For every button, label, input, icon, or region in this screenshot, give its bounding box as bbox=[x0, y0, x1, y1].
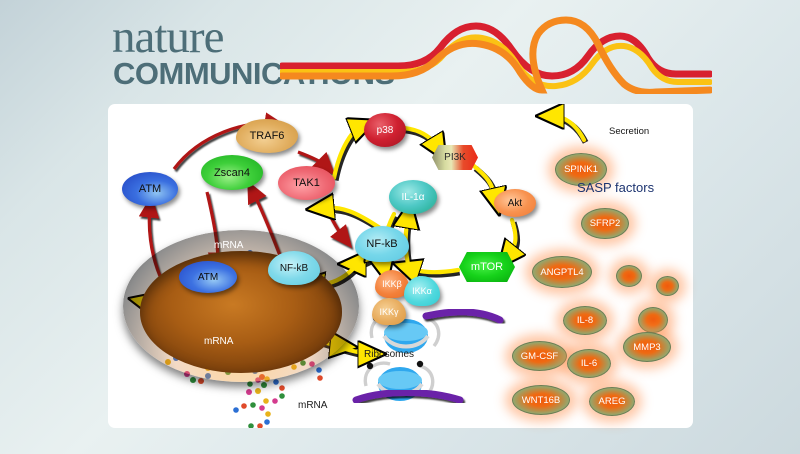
node-label: Zscan4 bbox=[214, 167, 250, 179]
node-label: IKKβ bbox=[382, 279, 402, 289]
logo-wave-graphic bbox=[280, 14, 712, 94]
node-p38[interactable]: p38 bbox=[364, 113, 406, 147]
node-traf6[interactable]: TRAF6 bbox=[236, 119, 298, 153]
cell-nucleus bbox=[123, 230, 359, 382]
node-mtor[interactable]: mTOR bbox=[459, 252, 515, 282]
sasp-mmp3[interactable]: MMP3 bbox=[623, 332, 671, 362]
node-label: TAK1 bbox=[293, 177, 320, 189]
sasp-wnt16b[interactable]: WNT16B bbox=[512, 385, 570, 415]
sasp-label: ANGPTL4 bbox=[540, 267, 583, 278]
node-zscan4[interactable]: Zscan4 bbox=[201, 155, 263, 190]
sasp-angptl4[interactable]: ANGPTL4 bbox=[532, 256, 592, 288]
node-label: ATM bbox=[198, 272, 218, 283]
node-label: Akt bbox=[508, 198, 522, 209]
node-pi3k[interactable]: PI3K bbox=[432, 145, 478, 170]
node-label: TRAF6 bbox=[250, 130, 285, 142]
sasp-unlabeled-3[interactable] bbox=[638, 307, 668, 333]
node-label: p38 bbox=[377, 125, 394, 136]
node-akt[interactable]: Akt bbox=[494, 189, 536, 217]
node-label: PI3K bbox=[444, 152, 466, 163]
node-label: NF-kB bbox=[280, 263, 308, 274]
node-label: NF-kB bbox=[366, 238, 397, 250]
nature-communications-logo: nature COMMUNICATIONS bbox=[112, 14, 712, 94]
node-label: IKKα bbox=[412, 286, 432, 296]
mrna-label-nucleus-top: mRNA bbox=[214, 240, 243, 251]
secretion-label: Secretion bbox=[609, 126, 649, 137]
node-label: IL-1α bbox=[401, 192, 424, 203]
sasp-label: IL-6 bbox=[581, 358, 597, 369]
sasp-label: GM-CSF bbox=[521, 351, 558, 362]
node-nfkb-nucleus[interactable]: NF-kB bbox=[268, 251, 320, 285]
node-ikk-gamma[interactable]: IKKγ bbox=[372, 298, 406, 325]
figure-page: nature COMMUNICATIONS bbox=[0, 0, 800, 454]
node-label: mTOR bbox=[471, 261, 503, 273]
node-label: ATM bbox=[139, 183, 161, 195]
sasp-unlabeled-1[interactable] bbox=[616, 265, 642, 287]
sasp-label: AREG bbox=[599, 396, 626, 407]
node-tak1[interactable]: TAK1 bbox=[278, 166, 335, 200]
sasp-unlabeled-2[interactable] bbox=[656, 276, 679, 296]
sasp-label: IL-8 bbox=[577, 315, 593, 326]
node-atm-nucleus[interactable]: ATM bbox=[179, 261, 237, 293]
sasp-label: MMP3 bbox=[633, 342, 660, 353]
figure-panel: ATM Zscan4 TRAF6 TAK1 p38 PI3K Akt mTOR … bbox=[108, 104, 693, 428]
sasp-label: SFRP2 bbox=[590, 218, 621, 229]
sasp-il8[interactable]: IL-8 bbox=[563, 306, 607, 335]
mrna-label-nucleus-bottom: mRNA bbox=[204, 336, 233, 347]
sasp-label: WNT16B bbox=[522, 395, 561, 406]
sasp-sfrp2[interactable]: SFRP2 bbox=[581, 208, 629, 239]
node-il1-alpha[interactable]: IL-1α bbox=[389, 180, 437, 214]
sasp-gm-csf[interactable]: GM-CSF bbox=[512, 341, 567, 371]
node-atm-cytoplasm[interactable]: ATM bbox=[122, 172, 178, 206]
sasp-areg[interactable]: AREG bbox=[589, 387, 635, 416]
node-nfkb-cytoplasm[interactable]: NF-kB bbox=[355, 226, 409, 262]
logo-nature-text: nature bbox=[112, 14, 223, 61]
sasp-factors-title: SASP factors bbox=[577, 180, 654, 195]
mrna-label-cytoplasm: mRNA bbox=[298, 400, 327, 411]
node-ikk-alpha[interactable]: IKKα bbox=[404, 276, 440, 306]
sasp-il6[interactable]: IL-6 bbox=[567, 349, 611, 378]
sasp-label: SPINK1 bbox=[564, 164, 598, 175]
ribosomes-label: Ribosomes bbox=[364, 349, 414, 360]
node-label: IKKγ bbox=[379, 307, 398, 317]
